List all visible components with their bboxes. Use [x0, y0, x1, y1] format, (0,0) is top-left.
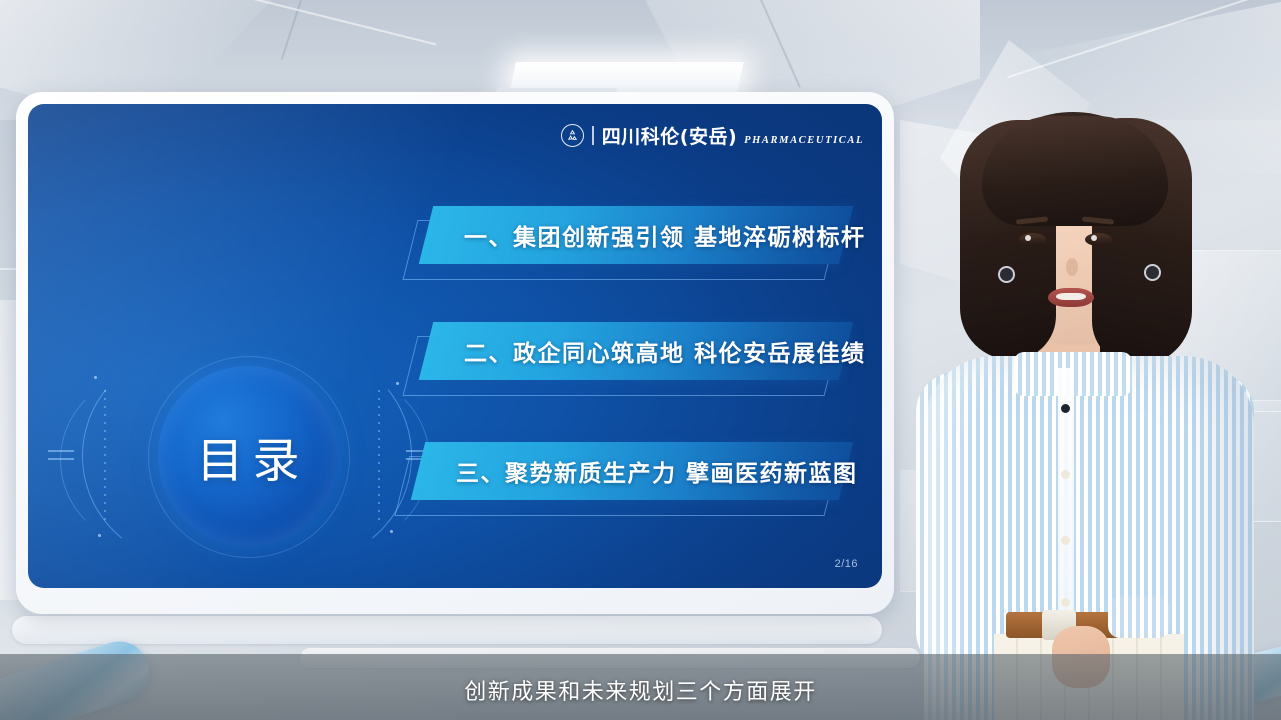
presenter-earring-right	[1144, 264, 1161, 281]
company-logo: 四川科伦(安岳) PHARMACEUTICAL	[561, 122, 864, 149]
presenter-shirt-button-4	[1061, 598, 1070, 607]
logo-chinese-name: 四川科伦(安岳)	[602, 122, 737, 149]
decor-tick-column-left	[104, 390, 106, 522]
presenter-eye-highlight-left	[1025, 235, 1031, 241]
video-frame: 四川科伦(安岳) PHARMACEUTICAL 目录	[0, 0, 1281, 720]
presenter-hair-fringe	[982, 116, 1168, 226]
presenter-teeth	[1056, 293, 1086, 300]
toc-item-2-label: 二、政企同心筑高地 科伦安岳展佳绩	[426, 322, 846, 380]
decor-dot-2	[396, 382, 399, 385]
presenter-nose	[1066, 258, 1078, 276]
decor-tick-column-right	[378, 390, 380, 522]
caption-text: 创新成果和未来规划三个方面展开	[0, 674, 1281, 706]
decor-dash-left-1	[48, 450, 74, 452]
decor-bar-2	[12, 616, 882, 644]
presenter-shirt-button-1	[1061, 404, 1070, 413]
recycle-emblem-icon	[561, 124, 584, 147]
logo-english-name: PHARMACEUTICAL	[744, 135, 864, 146]
presenter-earring-left	[998, 266, 1015, 283]
decor-dot-4	[390, 530, 393, 533]
toc-item-1-label: 一、集团创新强引领 基地淬砺树标杆	[426, 206, 846, 264]
toc-item-3[interactable]: 三、聚势新质生产力 擘画医药新蓝图	[418, 442, 846, 500]
presenter-eye-highlight-right	[1091, 235, 1097, 241]
presenter-eye-right	[1085, 233, 1112, 246]
digital-human-presenter	[886, 0, 1281, 720]
logo-text: 四川科伦(安岳) PHARMACEUTICAL	[602, 122, 864, 149]
presenter-cuff	[1108, 596, 1170, 638]
toc-badge-label: 目录	[158, 366, 338, 546]
toc-item-3-label: 三、聚势新质生产力 擘画医药新蓝图	[418, 442, 846, 500]
slide-page-number: 2/16	[835, 558, 858, 570]
toc-item-2[interactable]: 二、政企同心筑高地 科伦安岳展佳绩	[426, 322, 846, 380]
presenter-shirt-button-3	[1061, 536, 1070, 545]
presentation-slide[interactable]: 四川科伦(安岳) PHARMACEUTICAL 目录	[28, 104, 882, 588]
decor-dash-left-2	[48, 458, 74, 460]
toc-item-1[interactable]: 一、集团创新强引领 基地淬砺树标杆	[426, 206, 846, 264]
presenter-eye-left	[1019, 233, 1046, 246]
logo-divider	[592, 126, 594, 145]
decor-dot-1	[94, 376, 97, 379]
presenter-shirt-button-2	[1061, 470, 1070, 479]
toc-badge-cluster: 目录	[128, 352, 356, 560]
decor-dot-3	[98, 534, 101, 537]
